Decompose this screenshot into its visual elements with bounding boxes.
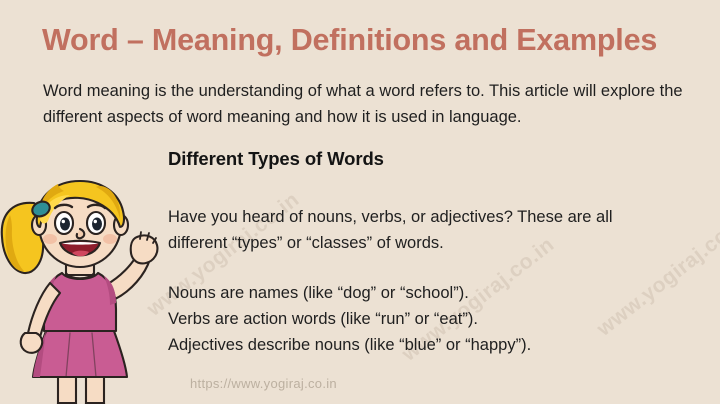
skirt [33,331,127,377]
hand-left [21,333,42,353]
slide-canvas: www.yogiraj.co.in www.yogiraj.co.in www.… [0,0,720,404]
list-item: Adjectives describe nouns (like “blue” o… [168,332,688,358]
list-item: Verbs are action words (like “run” or “e… [168,306,688,332]
leg-left [58,377,76,404]
page-title: Word – Meaning, Definitions and Examples [42,23,657,58]
cartoon-girl-illustration [0,153,160,404]
types-paragraph: Have you heard of nouns, verbs, or adjec… [168,204,668,256]
section-subheading: Different Types of Words [168,148,688,170]
definitions-list: Nouns are names (like “dog” or “school”)… [168,280,688,358]
intro-paragraph: Word meaning is the understanding of wha… [43,78,683,130]
leg-right [86,377,104,404]
hand-waving [131,235,158,263]
list-item: Nouns are names (like “dog” or “school”)… [168,280,688,306]
cheek-right [103,234,117,244]
source-url: https://www.yogiraj.co.in [190,376,337,391]
cheek-left [43,234,57,244]
content-column: Different Types of Words Have you heard … [168,148,688,358]
